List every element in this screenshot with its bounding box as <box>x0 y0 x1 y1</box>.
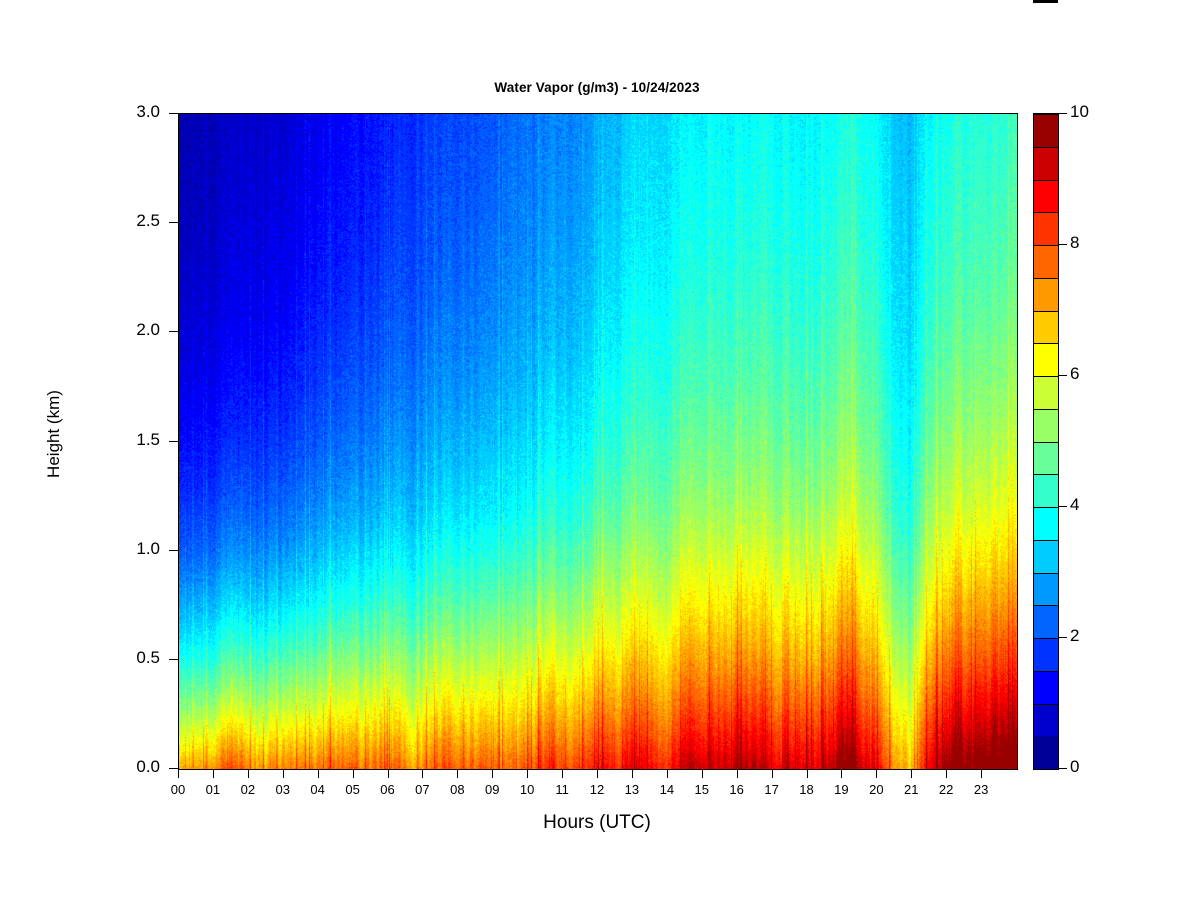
y-axis-tick <box>169 441 178 442</box>
x-axis-tick <box>981 769 982 778</box>
colorbar-band <box>1034 573 1058 606</box>
x-axis-tick-label: 12 <box>580 782 614 797</box>
x-axis-tick <box>318 769 319 778</box>
y-axis-tick-label: 2.5 <box>100 211 160 231</box>
y-axis-tick <box>169 659 178 660</box>
x-axis-tick-label: 21 <box>894 782 928 797</box>
colorbar-band <box>1034 147 1058 180</box>
x-axis-tick-label: 01 <box>196 782 230 797</box>
colorbar-band <box>1034 540 1058 573</box>
x-axis-tick <box>597 769 598 778</box>
x-axis-tick <box>911 769 912 778</box>
colorbar-tick <box>1058 244 1067 245</box>
x-axis-tick <box>213 769 214 778</box>
colorbar-band <box>1034 474 1058 507</box>
colorbar-band <box>1034 278 1058 311</box>
x-axis-tick <box>422 769 423 778</box>
x-axis-tick-label: 06 <box>371 782 405 797</box>
colorbar-band <box>1034 343 1058 376</box>
x-axis-tick-label: 13 <box>615 782 649 797</box>
colorbar-band <box>1034 245 1058 278</box>
x-axis-tick <box>772 769 773 778</box>
x-axis-tick <box>841 769 842 778</box>
x-axis-tick <box>492 769 493 778</box>
x-axis-tick-label: 19 <box>824 782 858 797</box>
heatmap-plot-area <box>178 113 1018 770</box>
y-axis-tick-label: 1.0 <box>100 539 160 559</box>
x-axis-tick-label: 23 <box>964 782 998 797</box>
y-axis-tick-label: 0.5 <box>100 648 160 668</box>
colorbar <box>1033 113 1059 770</box>
x-axis-tick-label: 18 <box>790 782 824 797</box>
x-axis-tick <box>457 769 458 778</box>
x-axis-tick-label: 17 <box>755 782 789 797</box>
figure-canvas: Water Vapor (g/m3) - 10/24/2023 0.00.51.… <box>0 0 1200 900</box>
x-axis-tick <box>632 769 633 778</box>
x-axis-tick <box>807 769 808 778</box>
colorbar-tick-label: 4 <box>1070 495 1114 515</box>
heatmap-raster <box>179 114 1017 769</box>
x-axis-tick-label: 03 <box>266 782 300 797</box>
colorbar-tick <box>1058 506 1067 507</box>
colorbar-tick-label: 6 <box>1070 364 1114 384</box>
colorbar-band <box>1034 376 1058 409</box>
colorbar-band <box>1034 180 1058 213</box>
x-axis-tick <box>946 769 947 778</box>
y-axis-tick <box>169 768 178 769</box>
colorbar-band <box>1034 442 1058 475</box>
colorbar-band <box>1034 704 1058 737</box>
x-axis-tick-label: 04 <box>301 782 335 797</box>
x-axis-tick <box>248 769 249 778</box>
x-axis-tick-label: 05 <box>336 782 370 797</box>
colorbar-tick <box>1058 375 1067 376</box>
y-axis-tick-label: 0.0 <box>100 757 160 777</box>
x-axis-tick-label: 10 <box>510 782 544 797</box>
colorbar-band <box>1034 311 1058 344</box>
colorbar-tick-label: 0 <box>1070 757 1114 777</box>
x-axis-tick <box>527 769 528 778</box>
y-axis-tick <box>169 550 178 551</box>
colorbar-band <box>1034 212 1058 245</box>
colorbar-tick <box>1058 768 1067 769</box>
x-axis-tick <box>178 769 179 778</box>
y-axis-tick <box>169 331 178 332</box>
x-axis-tick <box>388 769 389 778</box>
colorbar-band <box>1034 671 1058 704</box>
x-axis-tick-label: 14 <box>650 782 684 797</box>
y-axis-label: Height (km) <box>44 344 64 524</box>
x-axis-tick-label: 15 <box>685 782 719 797</box>
x-axis-tick-label: 16 <box>720 782 754 797</box>
page-title: Water Vapor (g/m3) - 10/24/2023 <box>178 80 1016 95</box>
x-axis-tick-label: 08 <box>440 782 474 797</box>
y-axis-tick-label: 3.0 <box>100 102 160 122</box>
colorbar-band <box>1034 409 1058 442</box>
x-axis-tick <box>702 769 703 778</box>
x-axis-tick <box>667 769 668 778</box>
x-axis-tick-label: 02 <box>231 782 265 797</box>
x-axis-label: Hours (UTC) <box>178 812 1016 834</box>
x-axis-tick-label: 09 <box>475 782 509 797</box>
y-axis-tick-label: 1.5 <box>100 430 160 450</box>
x-axis-tick <box>562 769 563 778</box>
colorbar-tick-label: 8 <box>1070 233 1114 253</box>
colorbar-band <box>1034 736 1058 769</box>
y-axis-tick <box>169 113 178 114</box>
colorbar-band <box>1034 114 1058 147</box>
colorbar-band <box>1034 605 1058 638</box>
colorbar-tick <box>1058 637 1067 638</box>
colorbar-band <box>1034 638 1058 671</box>
y-axis-tick-label: 2.0 <box>100 320 160 340</box>
y-axis-tick <box>169 222 178 223</box>
x-axis-tick-label: 22 <box>929 782 963 797</box>
x-axis-tick-label: 20 <box>859 782 893 797</box>
colorbar-band <box>1034 507 1058 540</box>
x-axis-tick-label: 00 <box>161 782 195 797</box>
x-axis-tick-label: 11 <box>545 782 579 797</box>
top-edge-artifact <box>1033 0 1058 3</box>
x-axis-tick <box>737 769 738 778</box>
x-axis-tick-label: 07 <box>405 782 439 797</box>
colorbar-tick-label: 10 <box>1070 102 1114 122</box>
colorbar-tick <box>1058 113 1067 114</box>
colorbar-tick-label: 2 <box>1070 626 1114 646</box>
x-axis-tick <box>353 769 354 778</box>
x-axis-tick <box>876 769 877 778</box>
x-axis-tick <box>283 769 284 778</box>
